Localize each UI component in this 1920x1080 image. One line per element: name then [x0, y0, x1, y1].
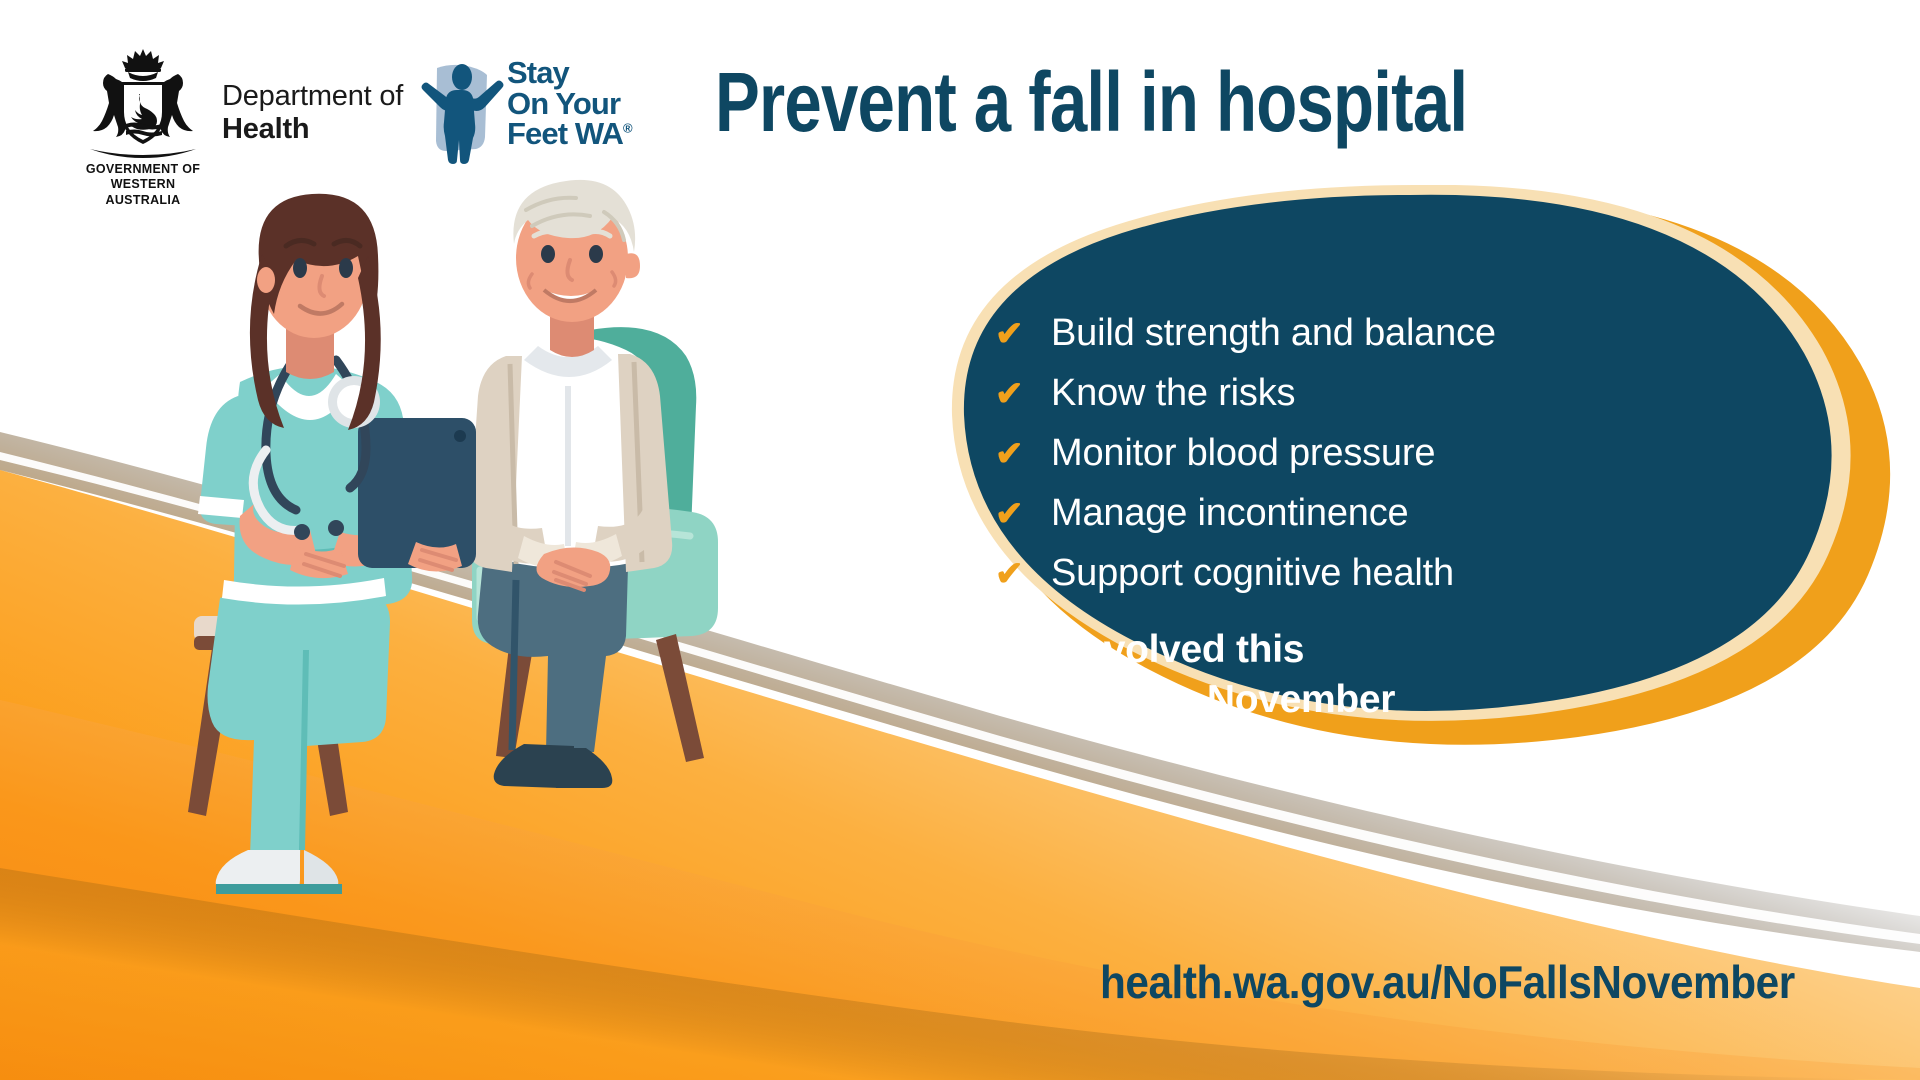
check-icon: ✔: [995, 373, 1029, 416]
checklist-item-label: Know the risks: [1051, 370, 1295, 418]
page-title: Prevent a fall in hospital: [715, 60, 1659, 170]
check-icon: ✔: [995, 313, 1029, 356]
cta-line2: No Falls November: [995, 675, 1785, 724]
crest-caption-line1: GOVERNMENT OF: [86, 162, 200, 176]
crest-caption: GOVERNMENT OF WESTERN AUSTRALIA: [72, 162, 214, 208]
check-icon: ✔: [995, 433, 1029, 476]
department-line2: Health: [222, 113, 403, 146]
illustration-svg: [120, 150, 880, 910]
department-line1: Department of: [222, 80, 403, 112]
checklist-item: ✔ Manage incontinence: [995, 490, 1785, 538]
checklist-item-label: Monitor blood pressure: [1051, 430, 1435, 478]
prevention-checklist: ✔ Build strength and balance ✔ Know the …: [995, 310, 1785, 597]
logo-line3: Feet WA: [507, 116, 623, 151]
call-to-action: Get involved this No Falls November: [995, 625, 1785, 723]
checklist-item-label: Manage incontinence: [1051, 490, 1408, 538]
checklist-item-label: Build strength and balance: [1051, 310, 1496, 358]
checklist-item-label: Support cognitive health: [1051, 550, 1454, 598]
logo-line1: Stay: [507, 58, 633, 89]
check-icon: ✔: [995, 553, 1029, 596]
wa-government-crest-icon: [78, 44, 208, 162]
registered-mark: ®: [623, 121, 633, 136]
info-panel: ✔ Build strength and balance ✔ Know the …: [880, 185, 1920, 745]
crest-caption-line2: WESTERN AUSTRALIA: [106, 177, 181, 206]
stay-on-your-feet-logo: Stay On Your Feet WA®: [415, 52, 640, 167]
checklist-item: ✔ Know the risks: [995, 370, 1785, 418]
check-icon: ✔: [995, 493, 1029, 536]
stay-on-your-feet-wordmark: Stay On Your Feet WA®: [507, 58, 633, 150]
logo-line2: On Your: [507, 89, 633, 120]
nurse-patient-illustration: [120, 150, 880, 910]
wa-government-crest: GOVERNMENT OF WESTERN AUSTRALIA: [78, 44, 208, 194]
checklist-item: ✔ Monitor blood pressure: [995, 430, 1785, 478]
panel-content: ✔ Build strength and balance ✔ Know the …: [995, 310, 1785, 724]
campaign-url[interactable]: health.wa.gov.au/NoFallsNovember: [1100, 955, 1818, 1009]
department-of-health-wordmark: Department of Health: [222, 80, 403, 146]
elderly-patient-figure: [468, 180, 672, 788]
checklist-item: ✔ Build strength and balance: [995, 310, 1785, 358]
checklist-item: ✔ Support cognitive health: [995, 550, 1785, 598]
poster-header: GOVERNMENT OF WESTERN AUSTRALIA Departme…: [0, 0, 1920, 200]
cta-line1: Get involved this: [995, 628, 1304, 671]
stay-on-your-feet-figure-icon: [415, 52, 505, 164]
poster-canvas: GOVERNMENT OF WESTERN AUSTRALIA Departme…: [0, 0, 1920, 1080]
